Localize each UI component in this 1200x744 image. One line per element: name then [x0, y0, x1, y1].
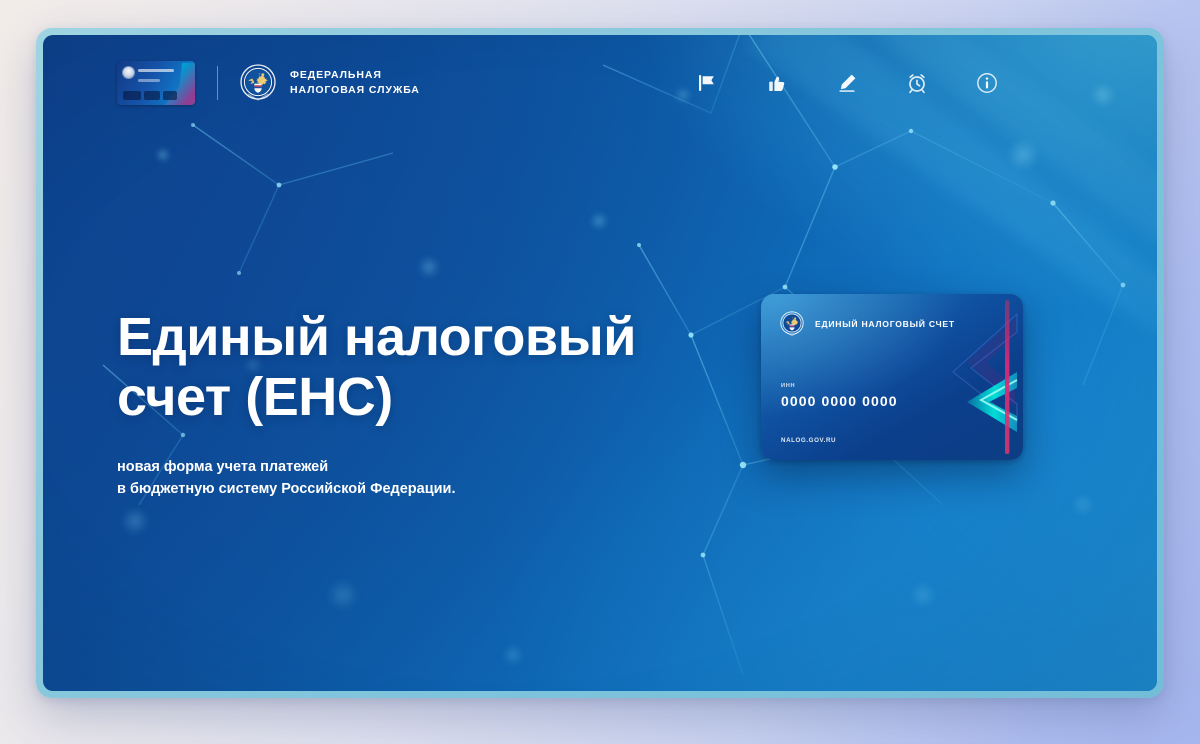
page-subtitle-line-2: в бюджетную систему Российской Федерации…: [117, 478, 737, 500]
card-header: ЕДИНЫЙ НАЛОГОВЫЙ СЧЕТ: [780, 311, 955, 337]
logo-emblem-icon: [123, 67, 134, 78]
brand-block: ФЕДЕРАЛЬНАЯ НАЛОГОВАЯ СЛУЖБА: [117, 61, 420, 105]
logo-chip: [123, 91, 141, 100]
card-inn-label: ИНН: [781, 383, 795, 389]
page-title: Единый налоговый счет (ЕНС): [117, 307, 737, 428]
card-inn-value: 0000 0000 0000: [781, 393, 898, 409]
hero-copy: Единый налоговый счет (ЕНС) новая форма …: [117, 307, 737, 501]
page-subtitle-line-1: новая форма учета платежей: [117, 456, 737, 478]
page-title-line-1: Единый налоговый: [117, 307, 737, 367]
fns-emblem-icon: [240, 64, 276, 102]
card-site-url: NALOG.GOV.RU: [781, 437, 836, 444]
page-subtitle: новая форма учета платежей в бюджетную с…: [117, 456, 737, 501]
ens-payment-card: ЕДИНЫЙ НАЛОГОВЫЙ СЧЕТ ИНН 0000 0000 0000…: [761, 294, 1023, 460]
brand-title-line-1: ФЕДЕРАЛЬНАЯ: [290, 68, 420, 83]
logo-text-line: [138, 69, 174, 72]
alarm-clock-icon[interactable]: [905, 71, 929, 95]
logo-text-line: [138, 79, 160, 82]
logo-chip: [144, 91, 160, 100]
flag-icon[interactable]: [695, 71, 719, 95]
brand-divider: [217, 66, 218, 100]
info-icon[interactable]: [975, 71, 999, 95]
slide-frame: ФЕДЕРАЛЬНАЯ НАЛОГОВАЯ СЛУЖБА: [36, 28, 1164, 698]
thumbs-up-icon[interactable]: [765, 71, 789, 95]
header-icon-bar: [695, 71, 999, 95]
page-title-line-2: счет (ЕНС): [117, 367, 737, 427]
brand-title-line-2: НАЛОГОВАЯ СЛУЖБА: [290, 83, 420, 98]
site-header: ФЕДЕРАЛЬНАЯ НАЛОГОВАЯ СЛУЖБА: [43, 35, 1157, 131]
logo-chip: [163, 91, 177, 100]
brand-title: ФЕДЕРАЛЬНАЯ НАЛОГОВАЯ СЛУЖБА: [290, 68, 420, 98]
hero-panel: ФЕДЕРАЛЬНАЯ НАЛОГОВАЯ СЛУЖБА: [43, 35, 1157, 691]
ens-card-logo[interactable]: [117, 61, 195, 105]
pencil-icon[interactable]: [835, 71, 859, 95]
card-title: ЕДИНЫЙ НАЛОГОВЫЙ СЧЕТ: [815, 319, 955, 329]
fns-emblem-icon: [780, 311, 804, 337]
